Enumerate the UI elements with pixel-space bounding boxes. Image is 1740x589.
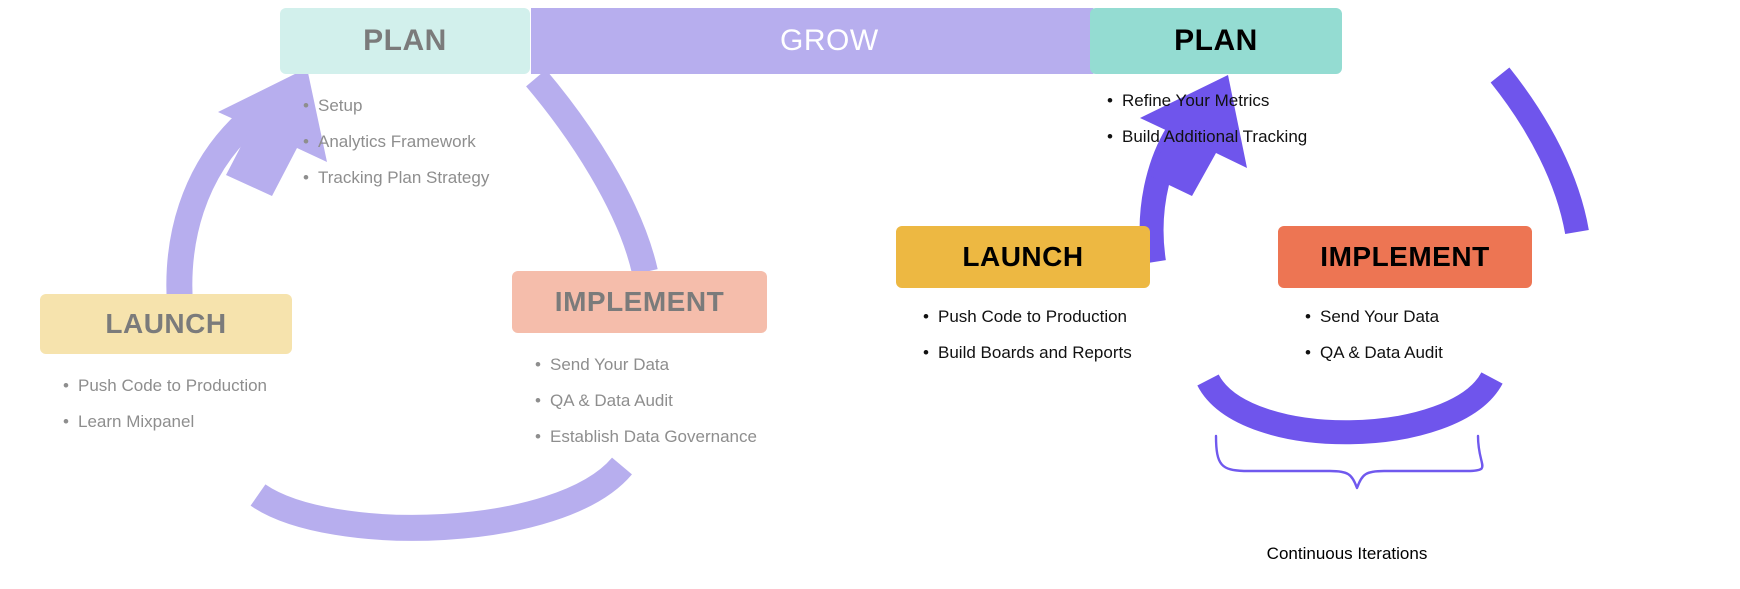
stage-plan-right-title: PLAN xyxy=(1090,8,1342,74)
bullet-icon: • xyxy=(914,343,938,363)
stage-implement-right[interactable]: IMPLEMENT • Send Your Data • QA & Data A… xyxy=(1278,226,1532,363)
stage-launch-right-title: LAUNCH xyxy=(896,226,1150,288)
list-item: • Build Boards and Reports xyxy=(914,343,1150,363)
list-item: • Send Your Data xyxy=(526,355,767,375)
list-item-label: Setup xyxy=(318,96,362,116)
stage-launch-right-items: • Push Code to Production • Build Boards… xyxy=(914,307,1150,363)
stage-implement-right-items: • Send Your Data • QA & Data Audit xyxy=(1296,307,1532,363)
arrow-implement-to-launch-right xyxy=(1208,378,1492,432)
stage-implement-left[interactable]: IMPLEMENT • Send Your Data • QA & Data A… xyxy=(512,271,767,447)
list-item-label: Tracking Plan Strategy xyxy=(318,168,489,188)
list-item-label: Send Your Data xyxy=(550,355,669,375)
arrow-implement-to-launch-left xyxy=(258,466,622,528)
stage-implement-right-title: IMPLEMENT xyxy=(1278,226,1532,288)
list-item-label: Refine Your Metrics xyxy=(1122,91,1269,111)
stage-implement-left-title: IMPLEMENT xyxy=(512,271,767,333)
bullet-icon: • xyxy=(1296,307,1320,327)
continuous-iterations-brace xyxy=(1216,436,1482,488)
list-item: • Tracking Plan Strategy xyxy=(294,168,530,188)
list-item-label: Build Boards and Reports xyxy=(938,343,1132,363)
list-item-label: Analytics Framework xyxy=(318,132,476,152)
bullet-icon: • xyxy=(294,132,318,152)
list-item: • Analytics Framework xyxy=(294,132,530,152)
stage-plan-right[interactable]: PLAN • Refine Your Metrics • Build Addit… xyxy=(1090,8,1342,147)
list-item: • Refine Your Metrics xyxy=(1098,91,1342,111)
list-item-label: Establish Data Governance xyxy=(550,427,757,447)
bullet-icon: • xyxy=(294,168,318,188)
list-item-label: Push Code to Production xyxy=(938,307,1127,327)
list-item: • Establish Data Governance xyxy=(526,427,767,447)
bullet-icon: • xyxy=(1098,91,1122,111)
list-item-label: QA & Data Audit xyxy=(1320,343,1443,363)
bullet-icon: • xyxy=(526,391,550,411)
stage-implement-left-items: • Send Your Data • QA & Data Audit • Est… xyxy=(526,355,767,447)
list-item-label: Learn Mixpanel xyxy=(78,412,194,432)
bullet-icon: • xyxy=(526,355,550,375)
list-item-label: Push Code to Production xyxy=(78,376,267,396)
stage-plan-right-items: • Refine Your Metrics • Build Additional… xyxy=(1098,91,1342,147)
bullet-icon: • xyxy=(54,376,78,396)
list-item: • Push Code to Production xyxy=(54,376,292,396)
list-item-label: Build Additional Tracking xyxy=(1122,127,1307,147)
stage-launch-left-title: LAUNCH xyxy=(40,294,292,354)
bullet-icon: • xyxy=(1296,343,1320,363)
list-item: • Send Your Data xyxy=(1296,307,1532,327)
lifecycle-diagram: GROW PLAN • Setup • Analytics Framework … xyxy=(0,0,1740,589)
list-item: • Learn Mixpanel xyxy=(54,412,292,432)
list-item: • Push Code to Production xyxy=(914,307,1150,327)
stage-plan-left-title: PLAN xyxy=(280,8,530,74)
bullet-icon: • xyxy=(1098,127,1122,147)
bullet-icon: • xyxy=(54,412,78,432)
arrow-plan-to-implement-left xyxy=(536,78,645,272)
bullet-icon: • xyxy=(914,307,938,327)
list-item: • QA & Data Audit xyxy=(1296,343,1532,363)
stage-plan-left[interactable]: PLAN • Setup • Analytics Framework • Tra… xyxy=(280,8,530,188)
list-item-label: Send Your Data xyxy=(1320,307,1439,327)
stage-plan-left-items: • Setup • Analytics Framework • Tracking… xyxy=(294,96,530,188)
list-item: • QA & Data Audit xyxy=(526,391,767,411)
arrow-plan-to-implement-right xyxy=(1500,75,1577,232)
list-item: • Build Additional Tracking xyxy=(1098,127,1342,147)
bullet-icon: • xyxy=(294,96,318,116)
stage-launch-left[interactable]: LAUNCH • Push Code to Production • Learn… xyxy=(40,294,292,432)
bullet-icon: • xyxy=(526,427,550,447)
continuous-iterations-label: Continuous Iterations xyxy=(1215,544,1479,564)
stage-launch-right[interactable]: LAUNCH • Push Code to Production • Build… xyxy=(896,226,1150,363)
list-item-label: QA & Data Audit xyxy=(550,391,673,411)
list-item: • Setup xyxy=(294,96,530,116)
stage-launch-left-items: • Push Code to Production • Learn Mixpan… xyxy=(54,376,292,432)
grow-label: GROW xyxy=(780,24,879,58)
